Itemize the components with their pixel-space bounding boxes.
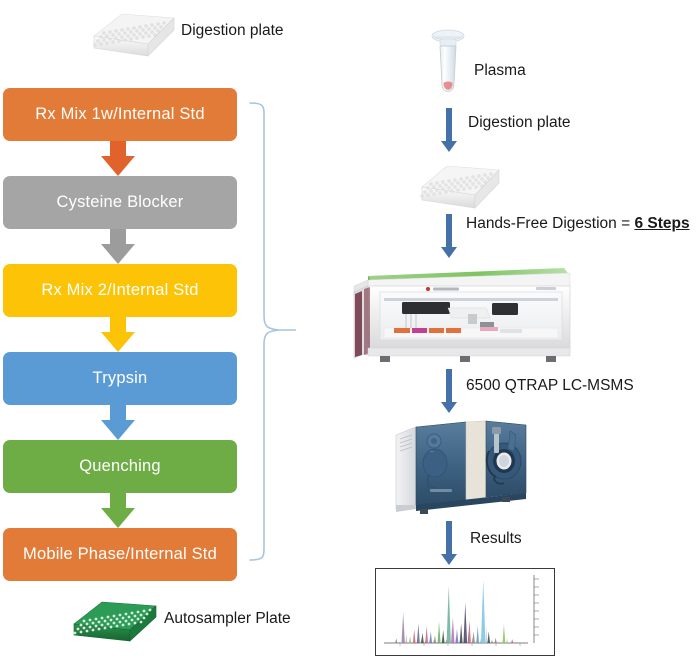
instrument-label: 6500 QTRAP LC-MSMS [466,377,634,395]
microplate-icon [88,6,178,62]
step-label: Trypsin [93,369,148,387]
step-label: Rx Mix 2/Internal Std [41,281,198,299]
step-box-quenching[interactable]: Quenching [3,440,237,493]
step-box-cysteine-blocker[interactable]: Cysteine Blocker [3,176,237,229]
results-chromatogram [375,568,555,656]
autosampler-plate-icon [68,596,160,648]
arrow-down-icon [101,229,135,264]
arrow-down-icon [441,108,457,152]
step-box-mobile-phase[interactable]: Mobile Phase/Internal Std [3,528,237,581]
arrow-down-icon [441,521,457,565]
arrow-down-icon [441,214,457,258]
digestion-plate-label-right: Digestion plate [468,114,571,132]
step-box-trypsin[interactable]: Trypsin [3,352,237,405]
hands-free-digestion-label: Hands-Free Digestion = 6 Steps [466,215,690,233]
chromatogram-plot [376,569,554,655]
grouping-brace [248,98,316,570]
autosampler-plate-label: Autosampler Plate [164,610,291,628]
arrow-down-icon [101,317,135,352]
microplate-icon [417,159,503,215]
arrow-down-icon [101,405,135,440]
arrow-down-icon [101,141,135,176]
digestion-plate-label-left: Digestion plate [181,22,284,40]
step-label: Quenching [79,457,161,475]
plasma-label: Plasma [474,62,526,80]
results-label: Results [470,530,522,548]
step-box-rx-mix-1w[interactable]: Rx Mix 1w/Internal Std [3,88,237,141]
step-label: Cysteine Blocker [57,193,184,211]
step-label: Rx Mix 1w/Internal Std [35,105,204,123]
step-box-rx-mix-2[interactable]: Rx Mix 2/Internal Std [3,264,237,317]
arrow-down-icon [101,493,135,528]
mass-spectrometer-icon: ـــ [390,417,538,519]
eppendorf-tube-icon [429,26,471,106]
hands-free-prefix: Hands-Free Digestion = [466,215,634,232]
hands-free-steps-value: 6 Steps [634,215,689,232]
arrow-down-icon [441,369,457,413]
liquid-handler-icon [340,256,580,368]
workflow-diagram: Digestion plate Rx Mix 1w/Internal Std C… [0,0,700,661]
step-label: Mobile Phase/Internal Std [23,545,217,563]
